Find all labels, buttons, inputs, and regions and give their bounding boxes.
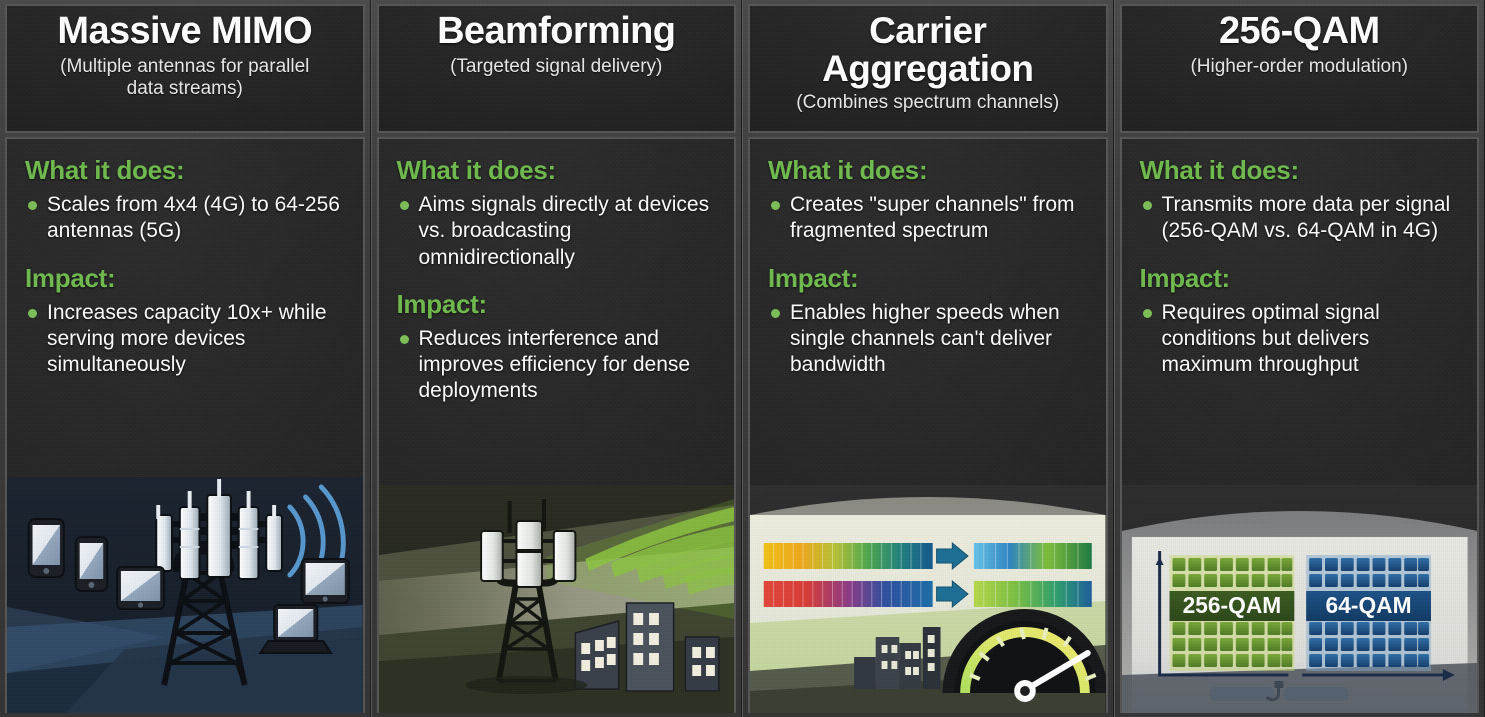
bullet-dot-icon	[28, 201, 37, 210]
qam-comparison-graphic: 256-QAM 64-QAM	[1122, 485, 1478, 713]
list-item: Creates "super channels" from fragmented…	[768, 192, 1090, 245]
panel-carrier-aggregation: Carrier Aggregation (Combines spectrum c…	[742, 0, 1114, 717]
section-heading-impact: Impact:	[768, 263, 1090, 294]
section-heading-what-it-does: What it does:	[25, 155, 347, 186]
section-heading-what-it-does: What it does:	[1140, 155, 1462, 186]
list-item-text: Requires optimal signal conditions but d…	[1162, 301, 1380, 377]
cell-tower-with-devices-graphic	[7, 477, 363, 713]
list-item: Transmits more data per signal (256-QAM …	[1140, 192, 1462, 245]
impact-list: Enables higher speeds when single channe…	[768, 300, 1090, 379]
list-item-text: Scales from 4x4 (4G) to 64-256 antennas …	[47, 193, 340, 242]
bullet-dot-icon	[400, 335, 409, 344]
what-it-does-list: Aims signals directly at devices vs. bro…	[397, 192, 719, 271]
impact-list: Reduces interference and improves effici…	[397, 326, 719, 405]
list-item-text: Enables higher speeds when single channe…	[790, 301, 1060, 377]
panel-header: 256-QAM (Higher-order modulation)	[1120, 4, 1480, 133]
infographic-board: Massive MIMO (Multiple antennas for para…	[0, 0, 1485, 717]
list-item-text: Aims signals directly at devices vs. bro…	[419, 193, 710, 269]
panel-text-zone: What it does: Aims signals directly at d…	[379, 139, 735, 407]
list-item: Scales from 4x4 (4G) to 64-256 antennas …	[25, 192, 347, 245]
device-phone-1	[29, 519, 64, 577]
panel-title: Beamforming	[437, 12, 675, 51]
list-item-text: Creates "super channels" from fragmented…	[790, 193, 1075, 242]
impact-list: Requires optimal signal conditions but d…	[1140, 300, 1462, 379]
panel-header: Beamforming (Targeted signal delivery)	[377, 4, 737, 133]
section-heading-impact: Impact:	[397, 289, 719, 320]
bullet-dot-icon	[1143, 201, 1152, 210]
qam-right-label: 64-QAM	[1325, 592, 1411, 618]
building-center	[626, 603, 673, 691]
panel-title: Massive MIMO	[57, 12, 312, 51]
illustration-qam-comparison: 256-QAM 64-QAM	[1122, 485, 1478, 713]
panel-subtitle: (Higher-order modulation)	[1188, 56, 1410, 78]
building-right	[685, 637, 718, 691]
constellation-grid-blue: 64-QAM	[1306, 555, 1431, 671]
panel-subtitle: (Targeted signal delivery)	[448, 56, 664, 78]
spectrum-row-1	[764, 543, 1092, 569]
panel-header: Carrier Aggregation (Combines spectrum c…	[748, 4, 1108, 133]
illustration-spectrum-aggregation	[750, 485, 1106, 713]
qam-left-label: 256-QAM	[1182, 592, 1281, 618]
list-item-text: Increases capacity 10x+ while serving mo…	[47, 301, 327, 377]
device-phone-2	[76, 537, 107, 591]
building-left	[575, 621, 618, 689]
what-it-does-list: Scales from 4x4 (4G) to 64-256 antennas …	[25, 192, 347, 245]
panel-body: What it does: Transmits more data per si…	[1120, 137, 1480, 713]
spectrum-row-2	[764, 581, 1092, 607]
device-tablet-2	[302, 559, 349, 603]
impact-list: Increases capacity 10x+ while serving mo…	[25, 300, 347, 379]
panel-title: 256-QAM	[1219, 12, 1380, 51]
panel-massive-mimo: Massive MIMO (Multiple antennas for para…	[0, 0, 371, 717]
what-it-does-list: Creates "super channels" from fragmented…	[768, 192, 1090, 245]
list-item: Enables higher speeds when single channe…	[768, 300, 1090, 379]
device-tablet-1	[117, 567, 164, 609]
panel-body: What it does: Aims signals directly at d…	[377, 137, 737, 713]
panel-text-zone: What it does: Creates "super channels" f…	[750, 139, 1106, 380]
tower-directed-beam-graphic	[379, 485, 735, 713]
bullet-dot-icon	[771, 309, 780, 318]
spectrum-aggregation-graphic	[750, 485, 1106, 713]
bullet-dot-icon	[771, 201, 780, 210]
list-item-text: Reduces interference and improves effici…	[419, 327, 691, 403]
panel-subtitle: (Combines spectrum channels)	[794, 92, 1061, 114]
panel-body: What it does: Scales from 4x4 (4G) to 64…	[5, 137, 365, 713]
illustration-tower-directed-beam	[379, 485, 735, 713]
illustration-cell-tower-with-devices	[7, 477, 363, 713]
bullet-dot-icon	[1143, 309, 1152, 318]
panel-256-qam: 256-QAM (Higher-order modulation) What i…	[1114, 0, 1485, 717]
panel-title: Carrier Aggregation	[822, 12, 1033, 87]
section-heading-what-it-does: What it does:	[397, 155, 719, 186]
panel-text-zone: What it does: Scales from 4x4 (4G) to 64…	[7, 139, 363, 380]
list-item-text: Transmits more data per signal (256-QAM …	[1162, 193, 1451, 242]
section-heading-what-it-does: What it does:	[768, 155, 1090, 186]
panel-text-zone: What it does: Transmits more data per si…	[1122, 139, 1478, 380]
bullet-dot-icon	[28, 309, 37, 318]
section-heading-impact: Impact:	[25, 263, 347, 294]
bullet-dot-icon	[400, 201, 409, 210]
panel-header: Massive MIMO (Multiple antennas for para…	[5, 4, 365, 133]
list-item: Reduces interference and improves effici…	[397, 326, 719, 405]
list-item: Requires optimal signal conditions but d…	[1140, 300, 1462, 379]
panel-body: What it does: Creates "super channels" f…	[748, 137, 1108, 713]
list-item: Aims signals directly at devices vs. bro…	[397, 192, 719, 271]
panel-subtitle: (Multiple antennas for parallel data str…	[58, 56, 311, 100]
constellation-grid-green: 256-QAM	[1169, 555, 1294, 671]
what-it-does-list: Transmits more data per signal (256-QAM …	[1140, 192, 1462, 245]
panel-beamforming: Beamforming (Targeted signal delivery) W…	[371, 0, 743, 717]
section-heading-impact: Impact:	[1140, 263, 1462, 294]
list-item: Increases capacity 10x+ while serving mo…	[25, 300, 347, 379]
